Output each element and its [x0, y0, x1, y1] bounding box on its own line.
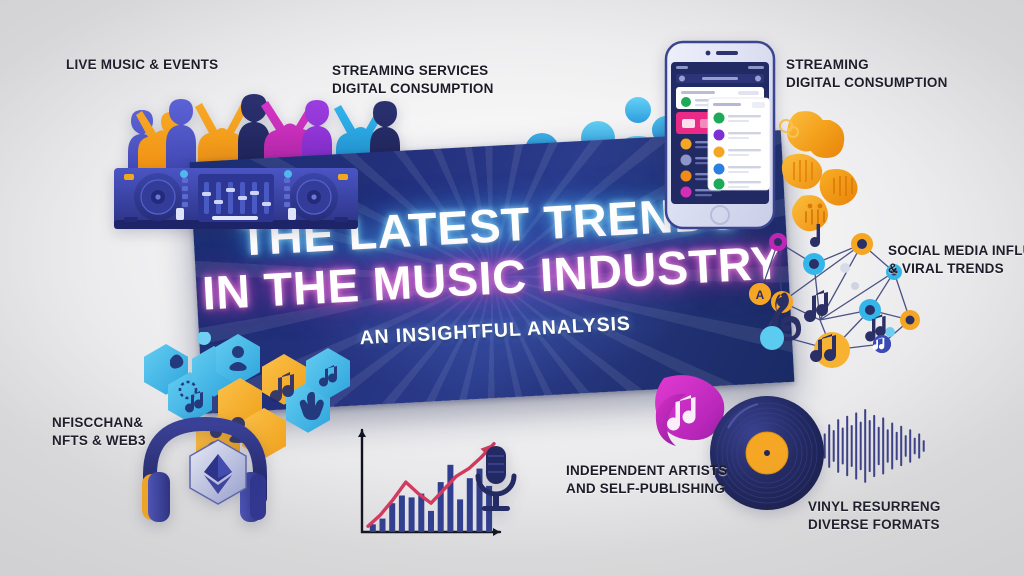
waveform-bar	[855, 412, 857, 479]
waveform-bar	[860, 422, 862, 471]
waveform-bar	[900, 426, 902, 466]
microphone-icon	[470, 444, 522, 520]
waveform-bar	[878, 427, 880, 466]
waveform-bar	[923, 440, 925, 452]
waveform-bar	[896, 432, 898, 461]
waveform-bar	[846, 416, 848, 477]
waveform-bar	[851, 425, 853, 467]
chart-bar	[389, 503, 395, 532]
chart-bar	[380, 519, 386, 532]
label-social-media-influencers: SOCIAL MEDIA INFLUENCERS & VIRAL TRENDS	[888, 242, 1024, 278]
waveform-bar	[909, 429, 911, 463]
label-live-music-events: LIVE MUSIC & EVENTS	[66, 56, 218, 74]
waveform-bar	[837, 419, 839, 473]
infographic-canvas: THE LATEST TRENDS IN THE MUSIC INDUSTRY …	[0, 0, 1024, 576]
chart-bar	[409, 497, 415, 532]
dj-mixer-illustration	[112, 162, 360, 238]
waveform-bar	[842, 428, 844, 465]
waveform-bar	[828, 424, 830, 468]
amber-podcast-avatars-illustration	[766, 108, 892, 236]
label-vinyl-resurgence: VINYL RESURRENG DIVERSE FORMATS	[808, 498, 941, 534]
waveform-bar	[869, 420, 871, 472]
label-independent-artists: INDEPENDENT ARTISTS AND SELF-PUBLISHING	[566, 462, 728, 498]
waveform-bar	[882, 417, 884, 474]
smartphone-mockup	[664, 40, 776, 230]
waveform-bar	[914, 438, 916, 455]
waveform-bar	[833, 430, 835, 462]
chart-bar	[399, 496, 405, 533]
waveform-bar	[905, 435, 907, 457]
chart-bar	[428, 511, 434, 532]
label-nfts-web3: NFISCCHAN& NFTS & WEB3	[52, 414, 146, 450]
subtitle: AN INSIGHTFUL ANALYSIS	[359, 312, 631, 350]
waveform-bar	[873, 415, 875, 477]
chart-bar	[457, 499, 463, 532]
waveform-bar	[891, 423, 893, 470]
chart-bar	[447, 465, 453, 532]
label-streaming-digital: STREAMING DIGITAL CONSUMPTION	[786, 56, 948, 92]
audio-waveform-illustration	[818, 400, 926, 492]
label-streaming-services: STREAMING SERVICES DIGITAL CONSUMPTION	[332, 62, 494, 98]
waveform-bar	[918, 433, 920, 458]
svg-text:A: A	[756, 288, 765, 302]
ethereum-badge-icon	[186, 438, 250, 510]
waveform-bar	[864, 409, 866, 483]
waveform-bar	[887, 429, 889, 463]
